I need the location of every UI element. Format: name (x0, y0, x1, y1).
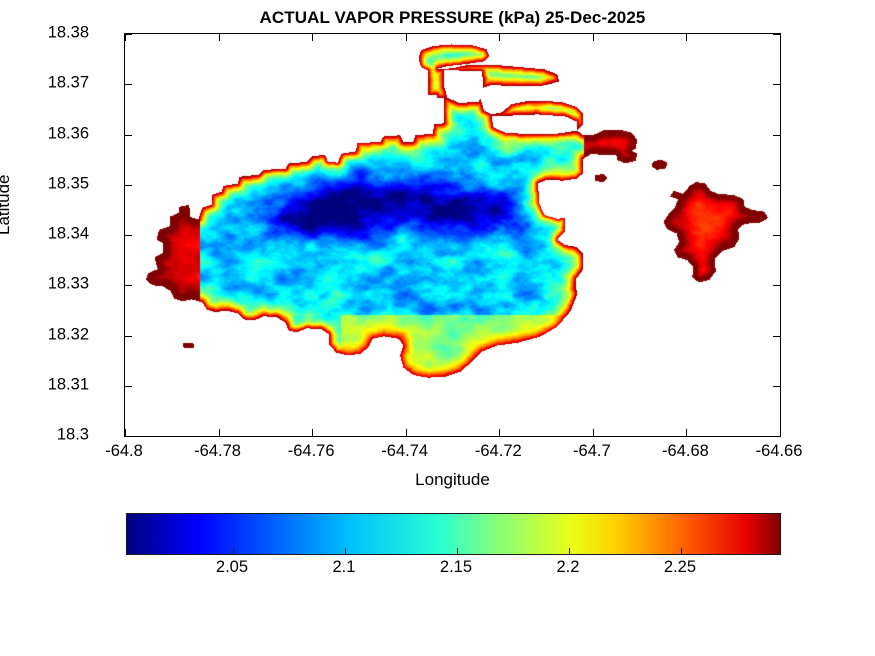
y-axis-tick (773, 34, 780, 35)
y-axis-tick-label: 18.36 (0, 124, 89, 143)
x-axis-tick (312, 34, 313, 41)
colorbar-tick-label: 2.15 (440, 558, 472, 577)
x-axis-tick (125, 34, 126, 41)
x-axis-tick (406, 34, 407, 41)
x-axis-tick-label: -64.68 (662, 442, 709, 461)
x-axis-tick-label: -64.76 (288, 442, 335, 461)
colorbar-tick (457, 548, 458, 554)
x-axis-tick (312, 429, 313, 436)
y-axis-tick (773, 84, 780, 85)
x-axis-tick-label: -64.72 (475, 442, 522, 461)
colorbar-tick-label: 2.1 (332, 558, 355, 577)
x-axis-tick (780, 34, 781, 41)
y-axis-tick (125, 34, 132, 35)
x-axis-tick (499, 34, 500, 41)
x-axis-tick (686, 429, 687, 436)
map-axes (124, 33, 781, 437)
x-axis-title: Longitude (124, 470, 781, 490)
x-axis-tick (593, 34, 594, 41)
y-axis-tick (773, 185, 780, 186)
y-axis-tick (125, 135, 132, 136)
y-axis-tick (773, 235, 780, 236)
vapor-pressure-heatmap (125, 34, 780, 436)
y-axis-tick (773, 436, 780, 437)
colorbar-gradient (127, 514, 780, 554)
x-axis-tick (593, 429, 594, 436)
y-axis-tick (125, 386, 132, 387)
x-axis-tick-label: -64.66 (756, 442, 803, 461)
y-axis-tick (773, 135, 780, 136)
colorbar-tick (233, 548, 234, 554)
y-axis-tick (125, 235, 132, 236)
x-axis-tick-label: -64.74 (381, 442, 428, 461)
y-axis-tick (125, 336, 132, 337)
x-axis-tick (499, 429, 500, 436)
y-axis-tick (773, 386, 780, 387)
colorbar-tick-label: 2.05 (216, 558, 248, 577)
x-axis-tick-label: -64.8 (105, 442, 143, 461)
y-axis-tick-label: 18.33 (0, 275, 89, 294)
x-axis-tick (219, 429, 220, 436)
y-axis-tick (125, 436, 132, 437)
colorbar[interactable] (126, 513, 781, 555)
y-axis-tick-label: 18.34 (0, 225, 89, 244)
y-axis-tick (125, 285, 132, 286)
x-axis-tick (125, 429, 126, 436)
colorbar-tick-label: 2.25 (664, 558, 696, 577)
y-axis-tick (125, 185, 132, 186)
colorbar-tick (569, 548, 570, 554)
colorbar-tick-label: 2.2 (556, 558, 579, 577)
figure-canvas: ACTUAL VAPOR PRESSURE (kPa) 25-Dec-2025 … (0, 0, 875, 656)
x-axis-tick (686, 34, 687, 41)
y-axis-tick-label: 18.38 (0, 24, 89, 43)
y-axis-tick (125, 84, 132, 85)
y-axis-tick (773, 336, 780, 337)
x-axis-tick (219, 34, 220, 41)
y-axis-tick-label: 18.3 (0, 426, 89, 445)
y-axis-tick-label: 18.37 (0, 74, 89, 93)
x-axis-tick-label: -64.7 (573, 442, 611, 461)
y-axis-tick (773, 285, 780, 286)
y-axis-tick-label: 18.31 (0, 375, 89, 394)
x-axis-tick (406, 429, 407, 436)
colorbar-tick (345, 548, 346, 554)
colorbar-tick (681, 548, 682, 554)
x-axis-tick (780, 429, 781, 436)
y-axis-tick-label: 18.35 (0, 174, 89, 193)
y-axis-tick-label: 18.32 (0, 325, 89, 344)
page-title: ACTUAL VAPOR PRESSURE (kPa) 25-Dec-2025 (124, 8, 781, 28)
x-axis-tick-label: -64.78 (194, 442, 241, 461)
